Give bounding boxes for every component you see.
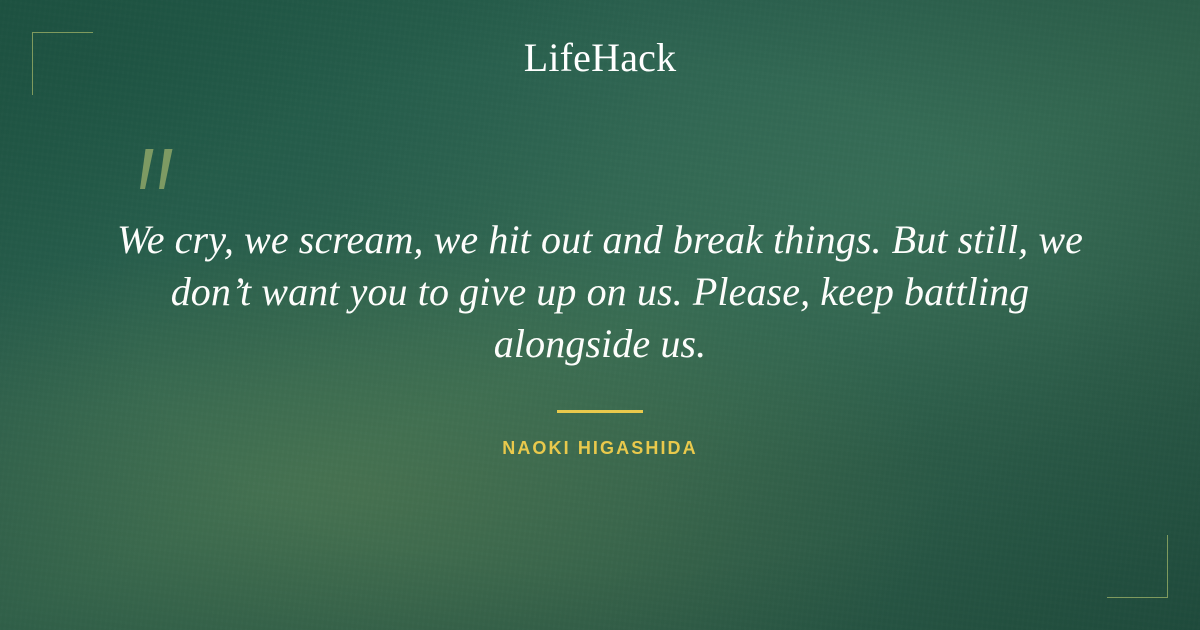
- attribution-divider: [557, 410, 643, 413]
- quote-body: We cry, we scream, we hit out and break …: [85, 214, 1115, 370]
- quote-line: don’t want you to give up on us. Please,…: [85, 266, 1115, 318]
- brand-logo-text: LifeHack: [524, 35, 677, 80]
- quote-author: NAOKI HIGASHIDA: [0, 438, 1200, 459]
- double-quote-mark-icon: [131, 148, 187, 194]
- brand-logo: LifeHack: [0, 38, 1200, 78]
- quote-line: We cry, we scream, we hit out and break …: [85, 214, 1115, 266]
- quote-card: LifeHack We cry, we scream, we hit out a…: [0, 0, 1200, 630]
- corner-bracket-bottom-right-icon: [1107, 535, 1168, 598]
- quote-line: alongside us.: [85, 318, 1115, 370]
